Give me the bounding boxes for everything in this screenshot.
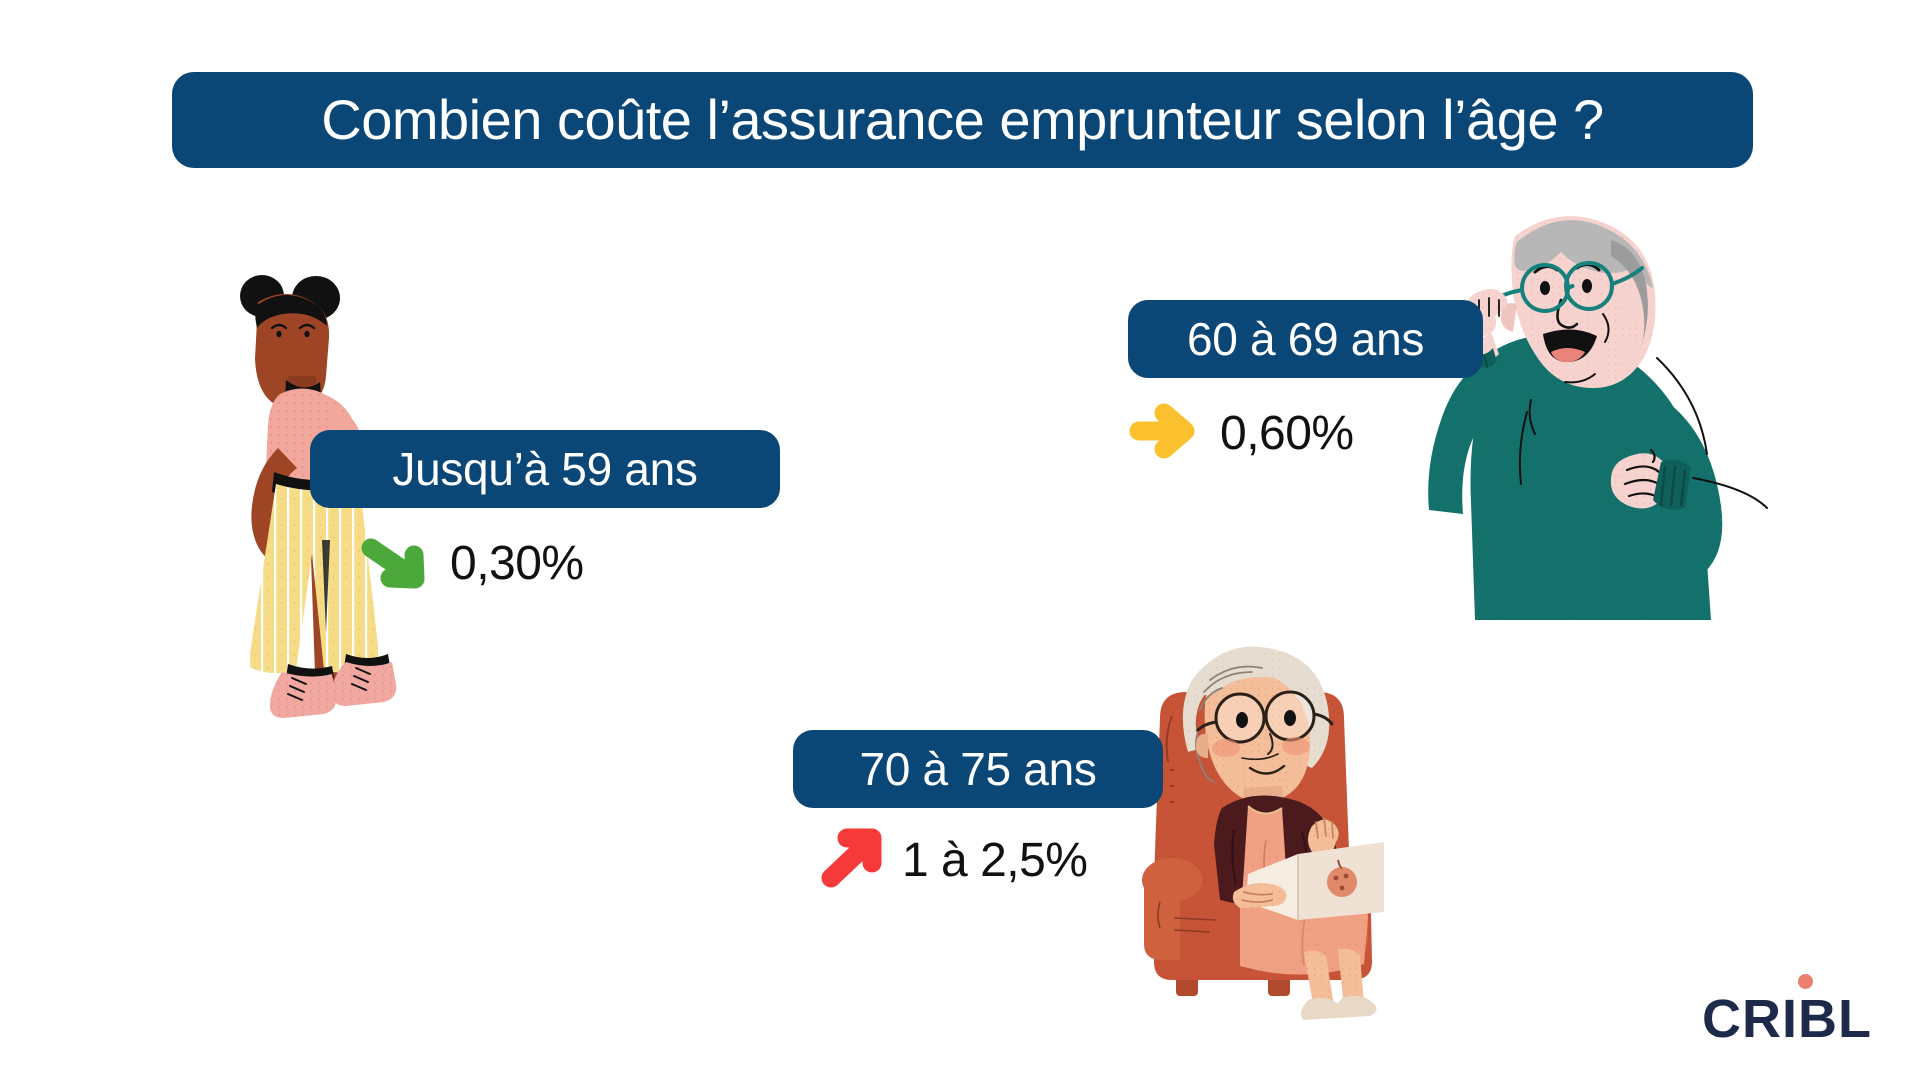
value-row-60-a-69: 0,60% xyxy=(1128,400,1354,467)
value-text-jusqua-59: 0,30% xyxy=(450,540,584,588)
age-group-label-60-a-69: 60 à 69 ans xyxy=(1128,300,1483,378)
page-title-text: Combien coûte l’assurance emprunteur sel… xyxy=(321,92,1603,148)
arrow-down-right-icon xyxy=(360,530,434,597)
cribl-logo-dot-icon xyxy=(1798,974,1813,989)
age-group-label-text: 60 à 69 ans xyxy=(1187,316,1424,362)
older-man-glasses-illustration xyxy=(1375,200,1805,620)
infographic-canvas: Combien coûte l’assurance emprunteur sel… xyxy=(0,0,1920,1080)
arrow-right-icon xyxy=(1128,400,1202,467)
page-title: Combien coûte l’assurance emprunteur sel… xyxy=(172,72,1753,168)
cribl-logo: CRIBL xyxy=(1702,990,1898,1046)
arrow-up-right-icon xyxy=(818,825,890,896)
value-text-60-a-69: 0,60% xyxy=(1220,410,1354,458)
elderly-woman-armchair-illustration xyxy=(1130,630,1460,1030)
age-group-label-text: 70 à 75 ans xyxy=(859,746,1096,792)
value-row-70-a-75: 1 à 2,5% xyxy=(818,825,1087,896)
age-group-label-jusqua-59: Jusqu’à 59 ans xyxy=(310,430,780,508)
age-group-label-text: Jusqu’à 59 ans xyxy=(392,446,697,492)
cribl-logo-text: CRIBL xyxy=(1702,992,1872,1046)
age-group-label-70-a-75: 70 à 75 ans xyxy=(793,730,1163,808)
value-row-jusqua-59: 0,30% xyxy=(360,530,584,597)
value-text-70-a-75: 1 à 2,5% xyxy=(902,837,1087,885)
